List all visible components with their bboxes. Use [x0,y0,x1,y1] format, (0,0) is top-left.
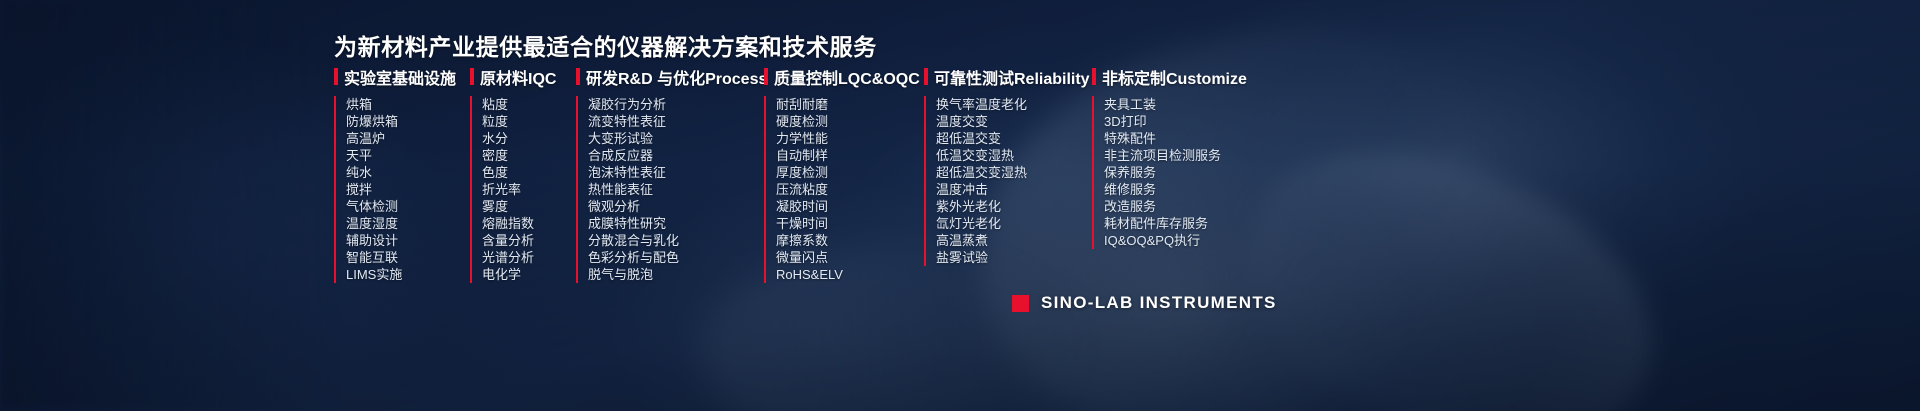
column-header: 可靠性测试Reliability [924,66,1092,87]
list-item[interactable]: 改造服务 [1104,198,1221,215]
list-item[interactable]: LIMS实施 [346,266,402,283]
list-item[interactable]: 氙灯光老化 [936,215,1027,232]
list-item[interactable]: 非主流项目检测服务 [1104,147,1221,164]
column-body: 换气率温度老化 温度交变 超低温交变 低温交变湿热 超低温交变湿热 温度冲击 紫… [924,96,1092,266]
list-item[interactable]: 熔融指数 [482,215,534,232]
list-item[interactable]: 特殊配件 [1104,130,1221,147]
list-item[interactable]: 温度冲击 [936,181,1027,198]
list-item[interactable]: 换气率温度老化 [936,96,1027,113]
list-item[interactable]: 成膜特性研究 [588,215,679,232]
column-body: 凝胶行为分析 流变特性表征 大变形试验 合成反应器 泡沫特性表征 热性能表征 微… [576,96,764,283]
vertical-rule-icon [470,96,472,283]
column-header: 原材料IQC [470,66,576,87]
column-title: 研发R&D 与优化Process [586,65,767,89]
column-body: 耐刮耐磨 硬度检测 力学性能 自动制样 厚度检测 压流粘度 凝胶时间 干燥时间 … [764,96,924,283]
list-item[interactable]: 搅拌 [346,181,402,198]
list-item[interactable]: 辅助设计 [346,232,402,249]
red-bar-icon [470,68,474,85]
column-header: 研发R&D 与优化Process [576,66,764,87]
list-item[interactable]: 天平 [346,147,402,164]
list-item[interactable]: 光谱分析 [482,249,534,266]
list-item[interactable]: 压流粘度 [776,181,843,198]
list-item[interactable]: 温度交变 [936,113,1027,130]
column-item-list: 换气率温度老化 温度交变 超低温交变 低温交变湿热 超低温交变湿热 温度冲击 紫… [936,96,1027,266]
red-bar-icon [334,68,338,85]
list-item[interactable]: 盐雾试验 [936,249,1027,266]
list-item[interactable]: 高温蒸煮 [936,232,1027,249]
column-body: 烘箱 防爆烘箱 高温炉 天平 纯水 搅拌 气体检测 温度湿度 辅助设计 智能互联… [334,96,470,283]
list-item[interactable]: 粘度 [482,96,534,113]
list-item[interactable]: 色彩分析与配色 [588,249,679,266]
column-title: 非标定制Customize [1102,65,1247,89]
brand-name: SINO-LAB INSTRUMENTS [1041,293,1277,313]
column-item-list: 凝胶行为分析 流变特性表征 大变形试验 合成反应器 泡沫特性表征 热性能表征 微… [588,96,679,283]
vertical-rule-icon [1092,96,1094,249]
column-body: 粘度 粒度 水分 密度 色度 折光率 雾度 熔融指数 含量分析 光谱分析 电化学 [470,96,576,283]
list-item[interactable]: 含量分析 [482,232,534,249]
list-item[interactable]: 3D打印 [1104,113,1221,130]
list-item[interactable]: 紫外光老化 [936,198,1027,215]
brand-logo[interactable]: SINO-LAB INSTRUMENTS [1012,293,1277,313]
column-item-list: 粘度 粒度 水分 密度 色度 折光率 雾度 熔融指数 含量分析 光谱分析 电化学 [482,96,534,283]
list-item[interactable]: 防爆烘箱 [346,113,402,130]
list-item[interactable]: 密度 [482,147,534,164]
list-item[interactable]: 耗材配件库存服务 [1104,215,1221,232]
list-item[interactable]: 流变特性表征 [588,113,679,130]
list-item[interactable]: 低温交变湿热 [936,147,1027,164]
category-column-customize: 非标定制Customize 夹具工装 3D打印 特殊配件 非主流项目检测服务 保… [1092,66,1272,249]
red-bar-icon [764,68,768,85]
column-header: 非标定制Customize [1092,66,1272,87]
column-body: 夹具工装 3D打印 特殊配件 非主流项目检测服务 保养服务 维修服务 改造服务 … [1092,96,1272,249]
category-column-rnd-process: 研发R&D 与优化Process 凝胶行为分析 流变特性表征 大变形试验 合成反… [576,66,764,283]
list-item[interactable]: 超低温交变 [936,130,1027,147]
category-columns: 实验室基础设施 烘箱 防爆烘箱 高温炉 天平 纯水 搅拌 气体检测 温度湿度 辅… [334,66,1272,283]
list-item[interactable]: 力学性能 [776,130,843,147]
list-item[interactable]: 折光率 [482,181,534,198]
list-item[interactable]: 干燥时间 [776,215,843,232]
column-item-list: 耐刮耐磨 硬度检测 力学性能 自动制样 厚度检测 压流粘度 凝胶时间 干燥时间 … [776,96,843,283]
column-header: 实验室基础设施 [334,66,470,87]
list-item[interactable]: RoHS&ELV [776,266,843,283]
category-column-reliability: 可靠性测试Reliability 换气率温度老化 温度交变 超低温交变 低温交变… [924,66,1092,266]
list-item[interactable]: 温度湿度 [346,215,402,232]
list-item[interactable]: 高温炉 [346,130,402,147]
list-item[interactable]: 水分 [482,130,534,147]
list-item[interactable]: 智能互联 [346,249,402,266]
red-bar-icon [1092,68,1096,85]
page-title: 为新材料产业提供最适合的仪器解决方案和技术服务 [334,28,877,62]
list-item[interactable]: 烘箱 [346,96,402,113]
list-item[interactable]: 凝胶时间 [776,198,843,215]
list-item[interactable]: 色度 [482,164,534,181]
list-item[interactable]: 合成反应器 [588,147,679,164]
list-item[interactable]: IQ&OQ&PQ执行 [1104,232,1221,249]
list-item[interactable]: 微观分析 [588,198,679,215]
list-item[interactable]: 保养服务 [1104,164,1221,181]
red-bar-icon [576,68,580,85]
list-item[interactable]: 超低温交变湿热 [936,164,1027,181]
column-header: 质量控制LQC&OQC [764,66,924,87]
column-item-list: 夹具工装 3D打印 特殊配件 非主流项目检测服务 保养服务 维修服务 改造服务 … [1104,96,1221,249]
banner-content: 为新材料产业提供最适合的仪器解决方案和技术服务 实验室基础设施 烘箱 防爆烘箱 … [0,0,1920,411]
vertical-rule-icon [924,96,926,266]
promo-banner: 为新材料产业提供最适合的仪器解决方案和技术服务 实验室基础设施 烘箱 防爆烘箱 … [0,0,1920,411]
list-item[interactable]: 分散混合与乳化 [588,232,679,249]
list-item[interactable]: 雾度 [482,198,534,215]
vertical-rule-icon [764,96,766,283]
category-column-raw-material-iqc: 原材料IQC 粘度 粒度 水分 密度 色度 折光率 雾度 熔融指数 含量分析 光 [470,66,576,283]
list-item[interactable]: 维修服务 [1104,181,1221,198]
red-bar-icon [924,68,928,85]
list-item[interactable]: 摩擦系数 [776,232,843,249]
red-square-logo-icon [1012,295,1029,312]
list-item[interactable]: 微量闪点 [776,249,843,266]
list-item[interactable]: 纯水 [346,164,402,181]
vertical-rule-icon [334,96,336,283]
list-item[interactable]: 气体检测 [346,198,402,215]
vertical-rule-icon [576,96,578,283]
column-title: 质量控制LQC&OQC [774,65,920,89]
category-column-quality-control: 质量控制LQC&OQC 耐刮耐磨 硬度检测 力学性能 自动制样 厚度检测 压流粘… [764,66,924,283]
list-item[interactable]: 大变形试验 [588,130,679,147]
list-item[interactable]: 耐刮耐磨 [776,96,843,113]
list-item[interactable]: 硬度检测 [776,113,843,130]
list-item[interactable]: 凝胶行为分析 [588,96,679,113]
list-item[interactable]: 脱气与脱泡 [588,266,679,283]
list-item[interactable]: 夹具工装 [1104,96,1221,113]
category-column-lab-infrastructure: 实验室基础设施 烘箱 防爆烘箱 高温炉 天平 纯水 搅拌 气体检测 温度湿度 辅… [334,66,470,283]
column-title: 可靠性测试Reliability [934,65,1090,89]
list-item[interactable]: 厚度检测 [776,164,843,181]
list-item[interactable]: 热性能表征 [588,181,679,198]
column-title: 实验室基础设施 [344,65,456,89]
list-item[interactable]: 自动制样 [776,147,843,164]
column-title: 原材料IQC [480,65,556,89]
list-item[interactable]: 泡沫特性表征 [588,164,679,181]
list-item[interactable]: 粒度 [482,113,534,130]
list-item[interactable]: 电化学 [482,266,534,283]
column-item-list: 烘箱 防爆烘箱 高温炉 天平 纯水 搅拌 气体检测 温度湿度 辅助设计 智能互联… [346,96,402,283]
